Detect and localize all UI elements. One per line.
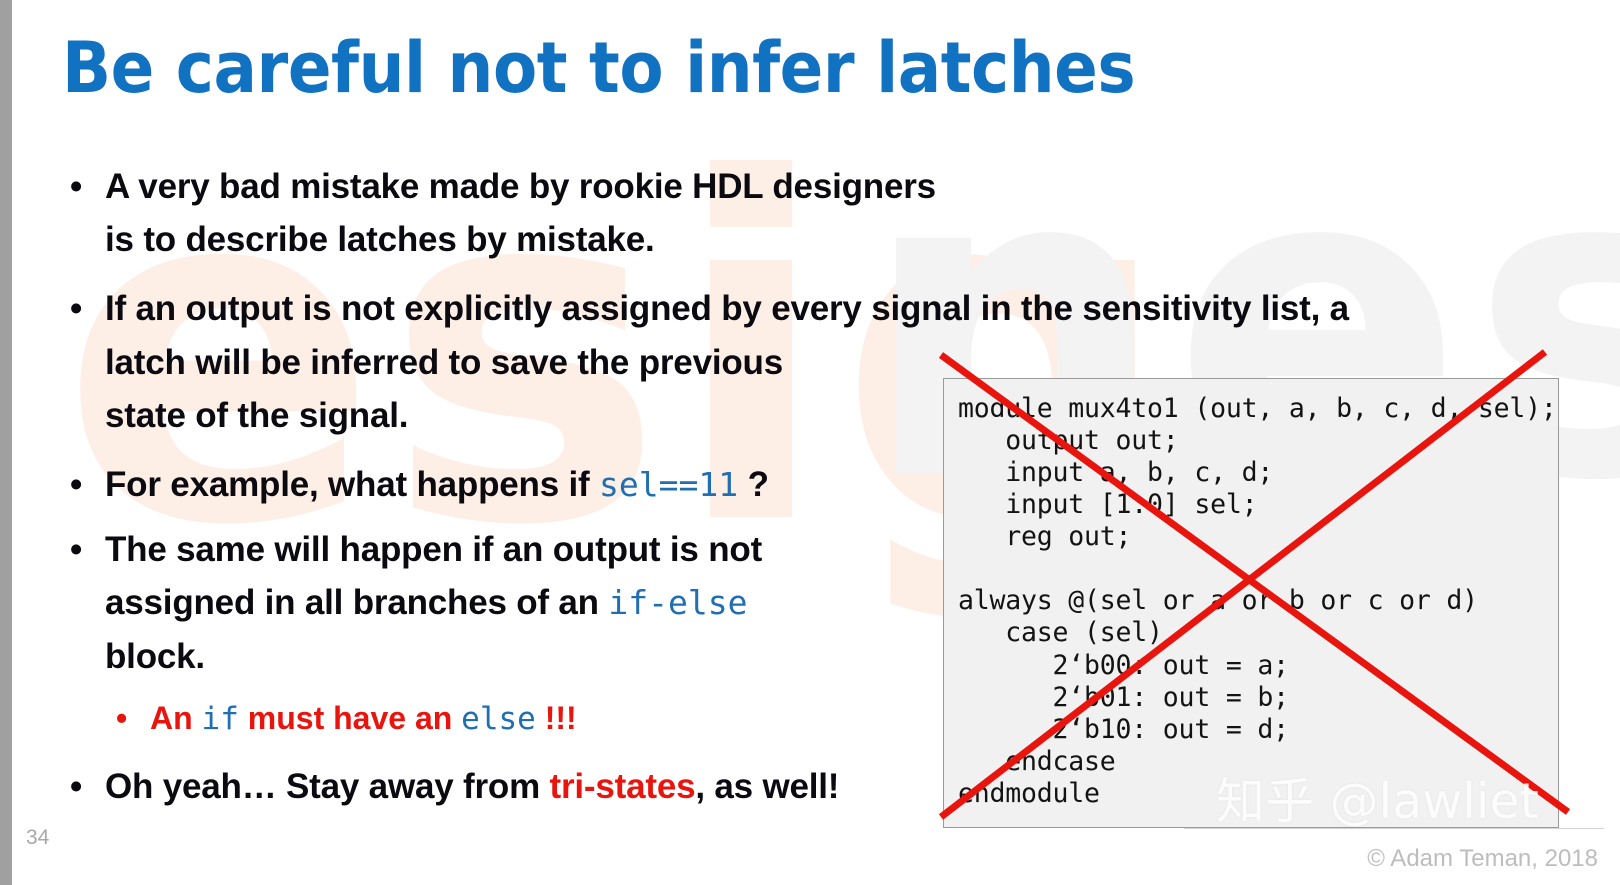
warning-text: must have an: [239, 700, 461, 736]
inline-code-if: if: [202, 701, 239, 737]
bullet-marker-icon: •: [70, 523, 82, 576]
warning-text: !!!: [536, 700, 577, 736]
inline-code-if-else: if-else: [608, 583, 747, 622]
inline-code-sel-condition: sel==11: [599, 465, 738, 504]
bullet-marker-icon: •: [70, 160, 82, 213]
bullet-text: For example, what happens if: [105, 465, 599, 504]
bullet-line: If an output is not explicitly assigned …: [105, 282, 1482, 335]
page-number: 34: [26, 826, 49, 850]
copyright-notice: © Adam Teman, 2018: [1367, 845, 1598, 873]
warning-text: An: [150, 700, 202, 736]
bullet-text: Oh yeah… Stay away from: [105, 767, 550, 806]
left-edge-bar: [0, 0, 12, 885]
bullet-marker-icon: •: [116, 695, 127, 741]
highlight-tri-states: tri-states: [550, 767, 696, 806]
bullet-text: , as well!: [695, 767, 839, 806]
footer-divider: [1184, 828, 1604, 829]
bullet-text: assigned in all branches of an: [105, 583, 608, 622]
inline-code-else: else: [461, 701, 536, 737]
code-block: module mux4to1 (out, a, b, c, d, sel); o…: [944, 379, 1558, 810]
slide-canvas: esig nes Be careful not to infer latches…: [0, 0, 1620, 885]
page-title: Be careful not to infer latches: [62, 33, 1135, 103]
bullet-line: A very bad mistake made by rookie HDL de…: [105, 160, 1482, 213]
bullet-line: is to describe latches by mistake.: [105, 213, 1482, 266]
bullet-marker-icon: •: [70, 282, 82, 335]
verilog-code-panel: module mux4to1 (out, a, b, c, d, sel); o…: [943, 378, 1559, 828]
bullet-marker-icon: •: [70, 760, 82, 813]
list-item: • A very bad mistake made by rookie HDL …: [62, 160, 1482, 266]
bullet-text: ?: [738, 465, 769, 504]
bullet-marker-icon: •: [70, 458, 82, 511]
